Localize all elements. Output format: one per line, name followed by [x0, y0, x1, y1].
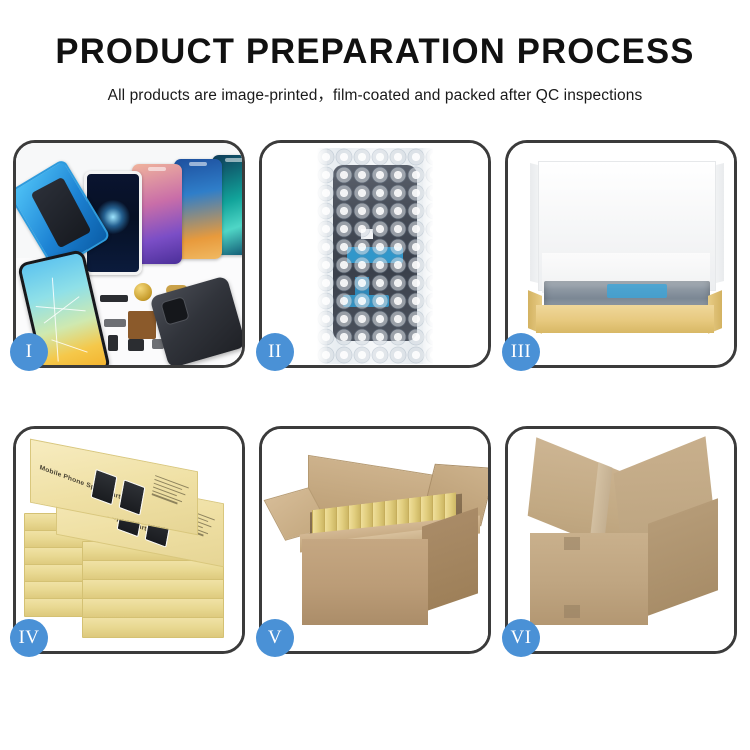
carton-handle-tab-top [564, 537, 580, 550]
part-speaker-coil [134, 283, 152, 301]
step-badge-4: IV [10, 619, 48, 657]
page-header: PRODUCT PREPARATION PROCESS All products… [0, 0, 750, 105]
step-badge-2: II [256, 333, 294, 371]
wrapped-product-in-box [544, 281, 710, 308]
bubble-texture [317, 148, 433, 364]
step-panel-4[interactable]: Mobile Phone Spare Parts Mobile Phone Sp… [13, 426, 245, 654]
step-panel-1[interactable]: I [13, 140, 245, 368]
part-chip-grid [128, 311, 156, 339]
step-badge-6: VI [502, 619, 540, 657]
process-steps-grid: I II III [13, 140, 737, 654]
step-image-bubble-wrap [262, 143, 488, 365]
step-image-open-box [508, 143, 734, 365]
step-image-box-stack: Mobile Phone Spare Parts Mobile Phone Sp… [16, 429, 242, 651]
carton-handle-tab-bottom [564, 605, 580, 618]
step-panel-2[interactable]: II [259, 140, 491, 368]
step-panel-3[interactable]: III [505, 140, 737, 368]
carton-front-panel [302, 539, 428, 625]
page-subtitle: All products are image-printed，film-coat… [0, 83, 750, 105]
step-badge-5: V [256, 619, 294, 657]
step-image-phone-parts [16, 143, 242, 365]
step-image-sealed-carton [508, 429, 734, 651]
page-title: PRODUCT PREPARATION PROCESS [4, 34, 747, 71]
step-panel-5[interactable]: V [259, 426, 491, 654]
carton-front-face [530, 533, 648, 625]
step-panel-6[interactable]: VI [505, 426, 737, 654]
part-battery-connector [108, 335, 118, 351]
part-bracket [104, 319, 126, 327]
box-front-panel [536, 305, 714, 333]
step-image-carton-packing [262, 429, 488, 651]
part-camera-module [128, 339, 144, 351]
step-badge-1: I [10, 333, 48, 371]
part-earpiece [100, 295, 128, 302]
step-badge-3: III [502, 333, 540, 371]
